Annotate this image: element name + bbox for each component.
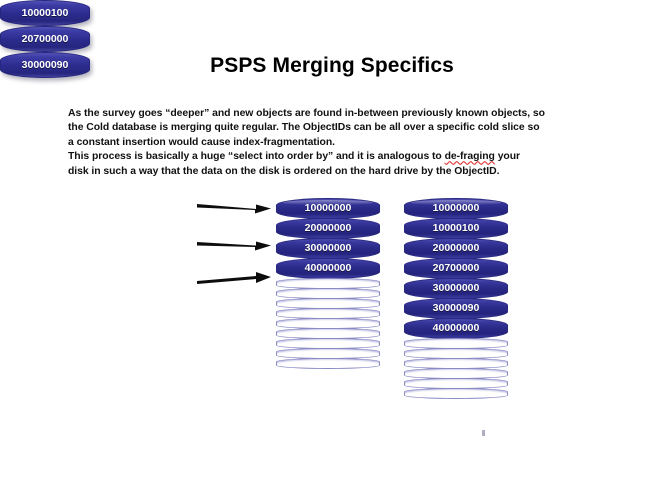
disk-stack-before-merge: 10000000200000003000000040000000 <box>276 198 380 368</box>
stack-after-slice-label: 40000000 <box>433 323 480 334</box>
merge-arrow-1 <box>196 200 272 216</box>
stack-before-filled-slice[interactable]: 40000000 <box>276 258 380 279</box>
slide-title: PSPS Merging Specifics <box>0 54 664 78</box>
stack-after-empty-slice <box>404 388 508 399</box>
stack-after-filled-slice[interactable]: 40000000 <box>404 318 508 339</box>
stack-before-empty-slice <box>276 358 380 369</box>
stack-after-slice-label: 30000090 <box>433 303 480 314</box>
stack-after-filled-slice[interactable]: 20000000 <box>404 238 508 259</box>
incoming-object-label-1: 10000100 <box>22 7 69 19</box>
stack-after-filled-slice[interactable]: 10000000 <box>404 198 508 219</box>
stack-after-filled-slice[interactable]: 10000100 <box>404 218 508 239</box>
stack-before-filled-slice[interactable]: 20000000 <box>276 218 380 239</box>
stack-before-slice-label: 10000000 <box>305 203 352 214</box>
slide-body-text: As the survey goes “deeper” and new obje… <box>68 107 608 179</box>
disk-stack-after-merge: 1000000010000100200000002070000030000000… <box>404 198 508 398</box>
stack-after-filled-slice[interactable]: 20700000 <box>404 258 508 279</box>
stack-after-slice-label: 20000000 <box>433 243 480 254</box>
stack-before-filled-slice[interactable]: 10000000 <box>276 198 380 219</box>
slide-canvas: PSPS Merging Specifics As the survey goe… <box>0 0 664 498</box>
stack-before-slice-label: 30000000 <box>305 243 352 254</box>
stack-after-slice-label: 10000100 <box>433 223 480 234</box>
stack-before-filled-slice[interactable]: 30000000 <box>276 238 380 259</box>
body-line-2: the Cold database is merging quite regul… <box>68 122 540 133</box>
merge-arrow-3 <box>196 271 272 287</box>
stray-artifact-dot <box>482 430 485 436</box>
body-line-1: As the survey goes “deeper” and new obje… <box>68 108 545 119</box>
body-line-3: a constant insertion would cause index-f… <box>68 137 335 148</box>
stack-before-slice-label: 20000000 <box>305 223 352 234</box>
incoming-object-pill-1[interactable]: 10000100 <box>0 0 90 26</box>
body-line-4a: This process is basically a huge “select… <box>68 151 445 162</box>
body-paragraph-1: As the survey goes “deeper” and new obje… <box>68 107 608 150</box>
stack-before-slice-label: 40000000 <box>305 263 352 274</box>
body-line-5: disk in such a way that the data on the … <box>68 166 499 177</box>
body-paragraph-2: This process is basically a huge “select… <box>68 150 608 179</box>
stack-after-filled-slice[interactable]: 30000090 <box>404 298 508 319</box>
merge-arrow-2 <box>196 237 272 253</box>
incoming-object-label-2: 20700000 <box>22 33 69 45</box>
spellcheck-underlined-word: de-fraging <box>445 151 495 162</box>
body-line-4b: your <box>495 151 520 162</box>
stack-after-slice-label: 30000000 <box>433 283 480 294</box>
stack-after-slice-label: 10000000 <box>433 203 480 214</box>
stack-after-filled-slice[interactable]: 30000000 <box>404 278 508 299</box>
incoming-object-pill-2[interactable]: 20700000 <box>0 26 90 52</box>
stack-after-slice-label: 20700000 <box>433 263 480 274</box>
